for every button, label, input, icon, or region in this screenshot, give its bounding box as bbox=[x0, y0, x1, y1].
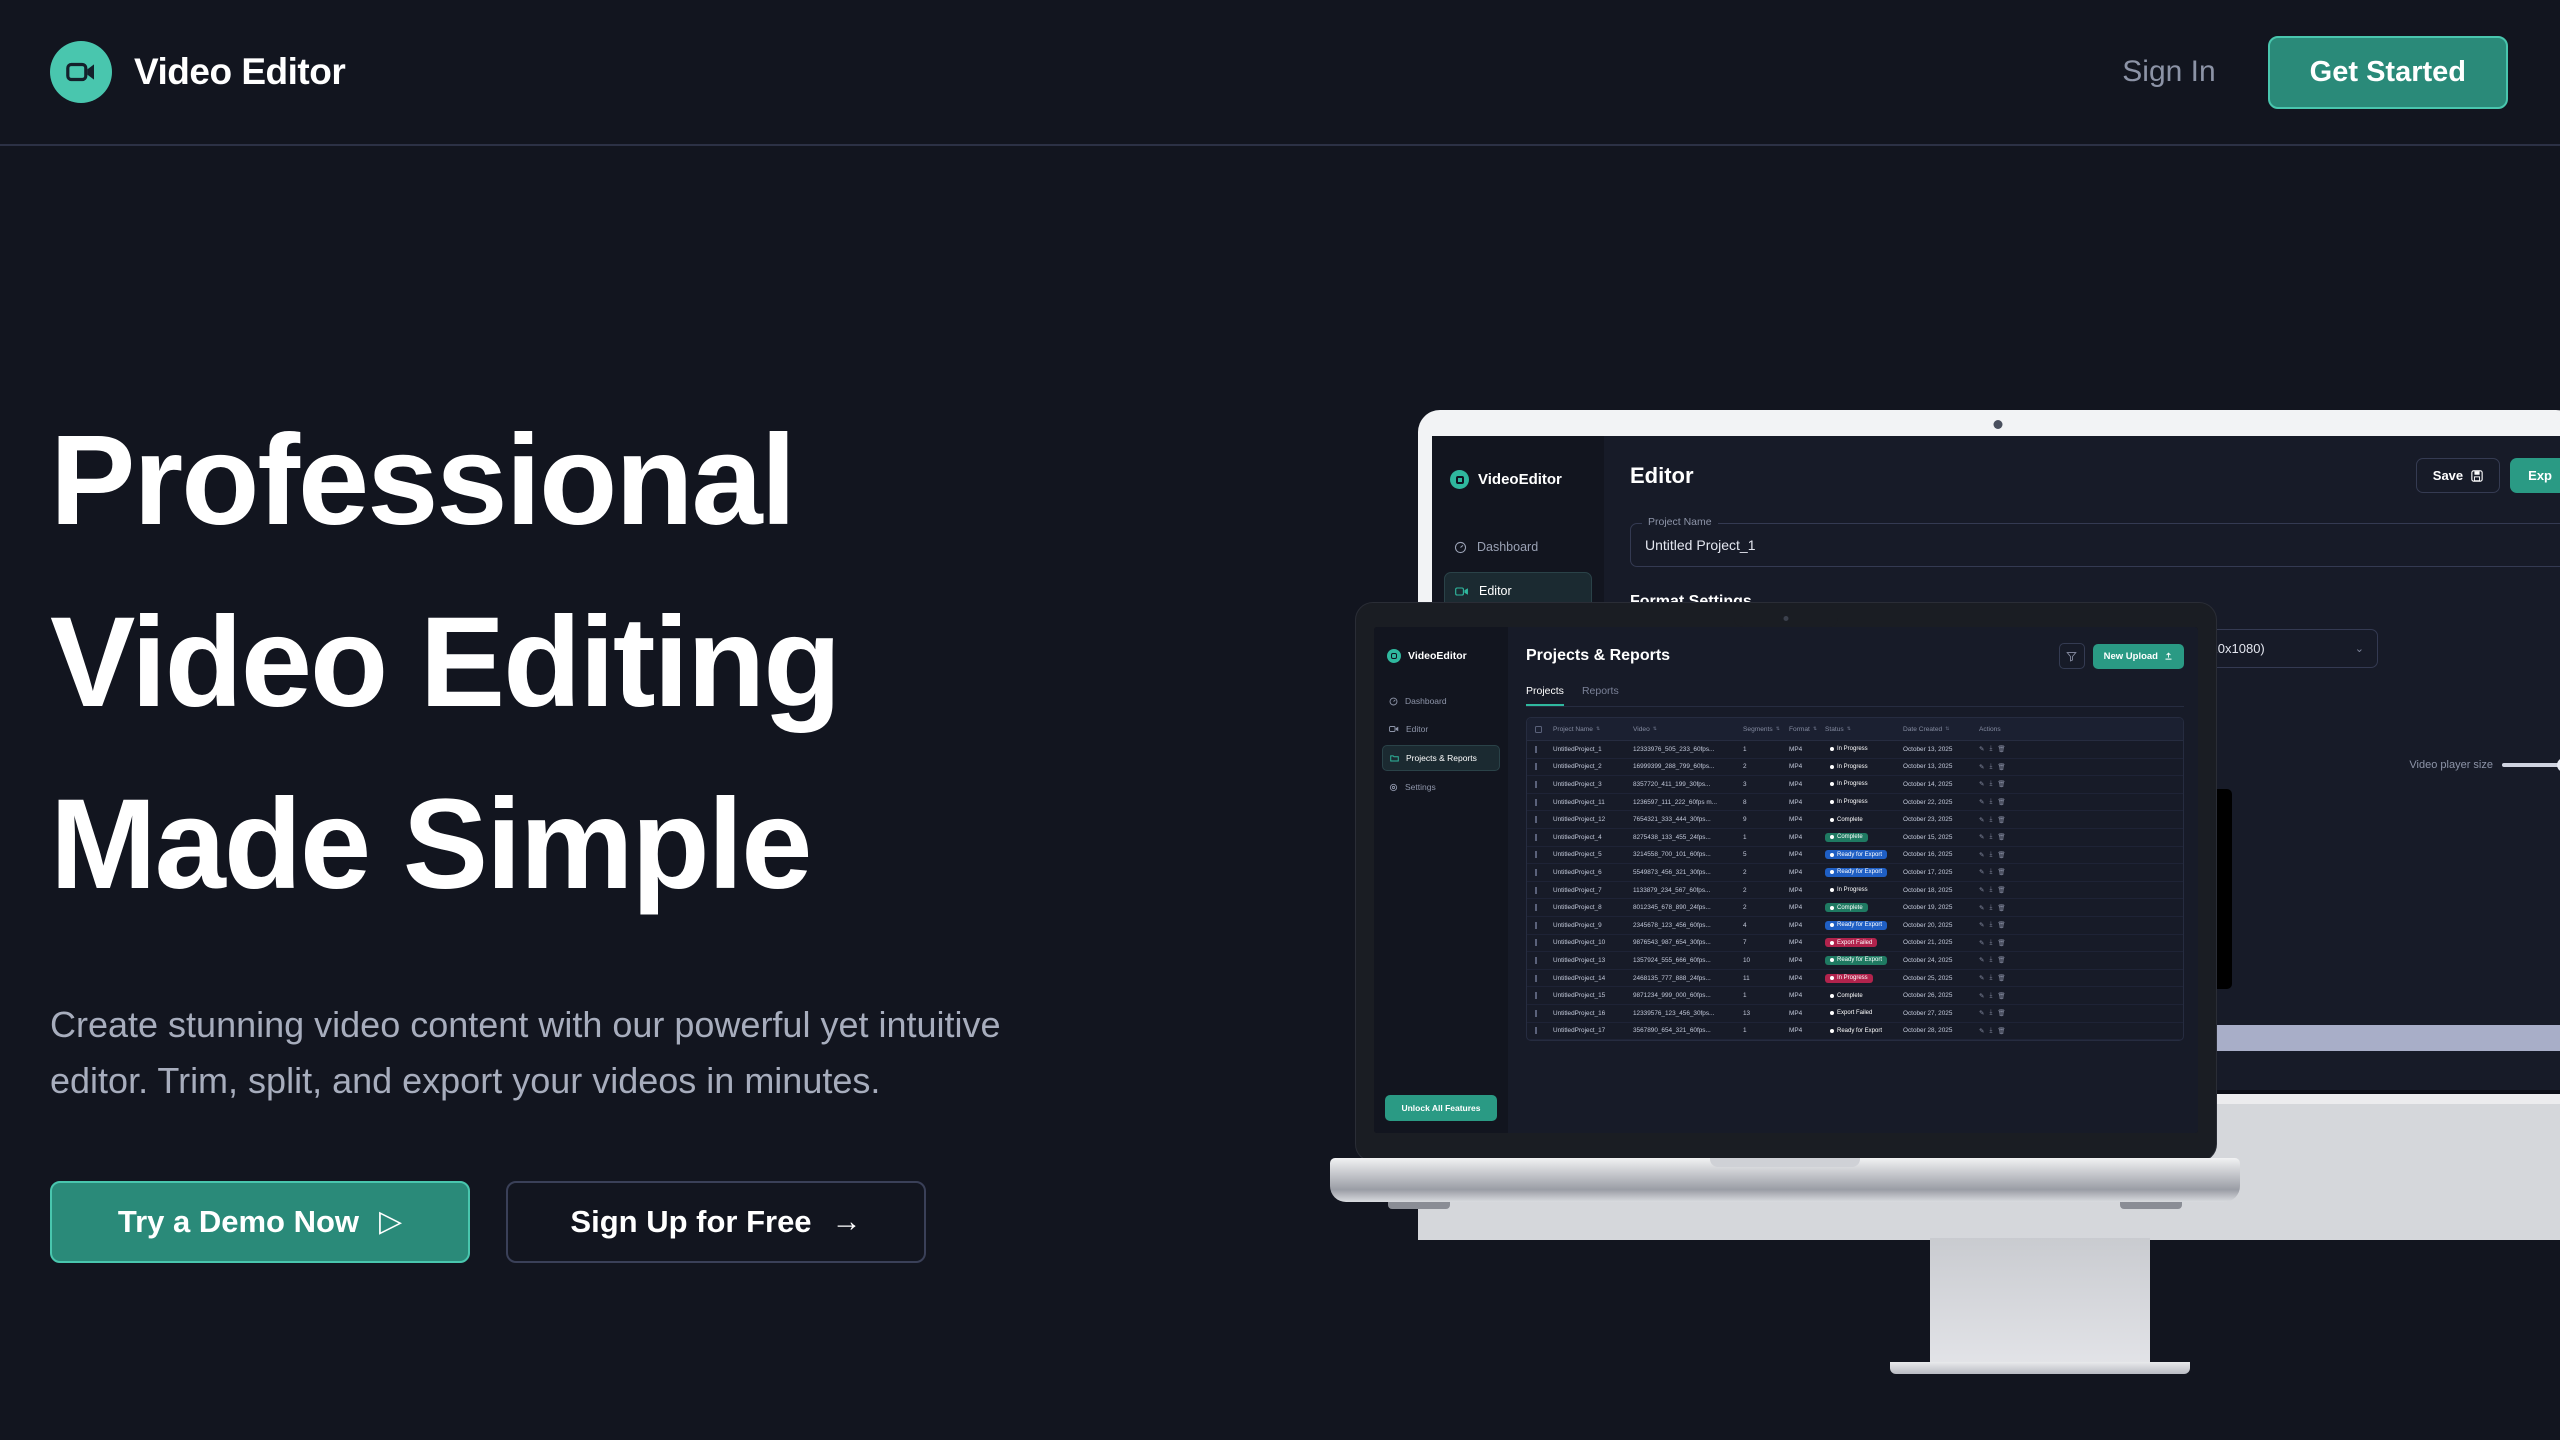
cell-project-name: UntitledProject_11 bbox=[1553, 799, 1633, 806]
video-camera-icon bbox=[1455, 586, 1469, 597]
sidebar-item-editor[interactable]: Editor bbox=[1382, 717, 1500, 741]
cell-segments: 4 bbox=[1743, 922, 1789, 929]
trash-icon: 🗑 bbox=[1997, 939, 2005, 947]
col-format[interactable]: Format⇅ bbox=[1789, 726, 1825, 733]
sidebar-item-label: Editor bbox=[1406, 724, 1428, 734]
edit-icon: ✎ bbox=[1979, 763, 1984, 771]
cell-segments: 1 bbox=[1743, 1027, 1789, 1034]
cell-date-created: October 17, 2025 bbox=[1903, 869, 1979, 876]
laptop-base bbox=[1330, 1158, 2240, 1202]
project-name-field[interactable]: Project Name Untitled Project_1 bbox=[1630, 523, 2560, 567]
table-row[interactable]: UntitledProject_131357924_555_666_60fps.… bbox=[1527, 952, 2183, 970]
trash-icon: 🗑 bbox=[1997, 851, 2005, 859]
table-body: UntitledProject_112333976_505_233_60fps.… bbox=[1527, 741, 2183, 1040]
cell-date-created: October 15, 2025 bbox=[1903, 834, 1979, 841]
cell-format: MP4 bbox=[1789, 1027, 1825, 1034]
edit-icon: ✎ bbox=[1979, 851, 1984, 859]
projects-main: Projects & Reports New Upload bbox=[1508, 627, 2198, 1133]
download-icon: ⤓ bbox=[1989, 1027, 1992, 1035]
cell-date-created: October 13, 2025 bbox=[1903, 746, 1979, 753]
cell-segments: 2 bbox=[1743, 763, 1789, 770]
filter-button[interactable] bbox=[2059, 643, 2085, 669]
video-camera-icon bbox=[1389, 725, 1399, 733]
download-icon: ⤓ bbox=[1989, 939, 1992, 947]
cell-format: MP4 bbox=[1789, 957, 1825, 964]
cell-format: MP4 bbox=[1789, 781, 1825, 788]
table-row[interactable]: UntitledProject_48275438_133_455_24fps..… bbox=[1527, 829, 2183, 847]
table-row[interactable]: UntitledProject_71133879_234_567_60fps..… bbox=[1527, 882, 2183, 900]
cell-actions[interactable]: ✎⤓🗑 bbox=[1979, 868, 2031, 876]
status-badge: Ready for Export bbox=[1825, 850, 1887, 859]
cell-segments: 5 bbox=[1743, 851, 1789, 858]
cell-actions[interactable]: ✎⤓🗑 bbox=[1979, 851, 2031, 859]
monitor-foot bbox=[1890, 1362, 2190, 1374]
chevron-down-icon: ⌄ bbox=[2355, 642, 2364, 655]
edit-icon: ✎ bbox=[1979, 833, 1984, 841]
cell-project-name: UntitledProject_6 bbox=[1553, 869, 1633, 876]
edit-icon: ✎ bbox=[1979, 816, 1984, 824]
tab-projects[interactable]: Projects bbox=[1526, 685, 1564, 706]
cell-video: 12333976_505_233_60fps... bbox=[1633, 746, 1743, 753]
cell-format: MP4 bbox=[1789, 869, 1825, 876]
sidebar-item-label: Dashboard bbox=[1405, 696, 1447, 706]
cell-format: MP4 bbox=[1789, 887, 1825, 894]
cell-actions[interactable]: ✎⤓🗑 bbox=[1979, 816, 2031, 824]
cell-segments: 1 bbox=[1743, 834, 1789, 841]
projects-header-actions: New Upload bbox=[2059, 643, 2184, 669]
cell-date-created: October 13, 2025 bbox=[1903, 763, 1979, 770]
gear-icon bbox=[1389, 783, 1398, 792]
projects-table: Project Name⇅ Video⇅ Segments⇅ Format⇅ S… bbox=[1526, 717, 2184, 1041]
row-checkbox[interactable] bbox=[1535, 904, 1553, 911]
status-badge: In Progress bbox=[1825, 762, 1873, 771]
video-camera-icon bbox=[50, 41, 112, 103]
status-badge: In Progress bbox=[1825, 886, 1873, 895]
play-icon: ▷ bbox=[379, 1204, 402, 1239]
cell-date-created: October 20, 2025 bbox=[1903, 922, 1979, 929]
cell-project-name: UntitledProject_17 bbox=[1553, 1027, 1633, 1034]
cell-segments: 8 bbox=[1743, 799, 1789, 806]
cell-actions[interactable]: ✎⤓🗑 bbox=[1979, 974, 2031, 982]
edit-icon: ✎ bbox=[1979, 921, 1984, 929]
download-icon: ⤓ bbox=[1989, 992, 1992, 1000]
cell-project-name: UntitledProject_14 bbox=[1553, 975, 1633, 982]
cell-actions[interactable]: ✎⤓🗑 bbox=[1979, 939, 2031, 947]
download-icon: ⤓ bbox=[1989, 921, 1992, 929]
sign-up-label: Sign Up for Free bbox=[570, 1204, 811, 1240]
trash-icon: 🗑 bbox=[1997, 798, 2005, 806]
cell-segments: 1 bbox=[1743, 992, 1789, 999]
row-checkbox[interactable] bbox=[1535, 746, 1553, 753]
export-button[interactable]: Exp bbox=[2510, 458, 2560, 493]
cell-status: In Progress bbox=[1825, 745, 1903, 754]
floppy-disk-icon bbox=[2471, 470, 2483, 482]
arrow-right-icon: → bbox=[832, 1205, 862, 1239]
cell-segments: 3 bbox=[1743, 781, 1789, 788]
cell-date-created: October 23, 2025 bbox=[1903, 816, 1979, 823]
player-size-label: Video player size bbox=[2409, 759, 2493, 771]
row-checkbox[interactable] bbox=[1535, 975, 1553, 982]
cell-segments: 2 bbox=[1743, 904, 1789, 911]
cell-status: Complete bbox=[1825, 903, 1903, 912]
table-row[interactable]: UntitledProject_1612339576_123_456_30fps… bbox=[1527, 1005, 2183, 1023]
status-badge: Ready for Export bbox=[1825, 956, 1887, 965]
cell-actions[interactable]: ✎⤓🗑 bbox=[1979, 780, 2031, 788]
edit-icon: ✎ bbox=[1979, 1027, 1984, 1035]
download-icon: ⤓ bbox=[1989, 763, 1992, 771]
download-icon: ⤓ bbox=[1989, 851, 1992, 859]
try-demo-label: Try a Demo Now bbox=[118, 1204, 359, 1240]
row-checkbox[interactable] bbox=[1535, 763, 1553, 770]
project-name-label: Project Name bbox=[1642, 516, 1718, 528]
cell-format: MP4 bbox=[1789, 939, 1825, 946]
cell-format: MP4 bbox=[1789, 1010, 1825, 1017]
cell-format: MP4 bbox=[1789, 816, 1825, 823]
cell-date-created: October 26, 2025 bbox=[1903, 992, 1979, 999]
edit-icon: ✎ bbox=[1979, 939, 1984, 947]
cell-actions[interactable]: ✎⤓🗑 bbox=[1979, 1027, 2031, 1035]
cell-format: MP4 bbox=[1789, 799, 1825, 806]
row-checkbox[interactable] bbox=[1535, 957, 1553, 964]
download-icon: ⤓ bbox=[1989, 974, 1992, 982]
camera-icon bbox=[1994, 420, 2003, 429]
try-demo-button[interactable]: Try a Demo Now ▷ bbox=[50, 1181, 470, 1263]
col-segments[interactable]: Segments⇅ bbox=[1743, 726, 1789, 733]
cell-video: 12339576_123_456_30fps... bbox=[1633, 1010, 1743, 1017]
download-icon: ⤓ bbox=[1989, 798, 1992, 806]
save-label: Save bbox=[2433, 468, 2463, 483]
editor-page-title: Editor bbox=[1630, 463, 1694, 489]
row-checkbox[interactable] bbox=[1535, 887, 1553, 894]
cell-status: Complete bbox=[1825, 991, 1903, 1000]
cell-project-name: UntitledProject_9 bbox=[1553, 922, 1633, 929]
cell-project-name: UntitledProject_4 bbox=[1553, 834, 1633, 841]
trash-icon: 🗑 bbox=[1997, 816, 2005, 824]
table-row[interactable]: UntitledProject_159871234_999_000_60fps.… bbox=[1527, 987, 2183, 1005]
cell-status: Complete bbox=[1825, 833, 1903, 842]
trash-icon: 🗑 bbox=[1997, 780, 2005, 788]
cell-project-name: UntitledProject_16 bbox=[1553, 1010, 1633, 1017]
row-checkbox[interactable] bbox=[1535, 1010, 1553, 1017]
cell-video: 2345678_123_456_60fps... bbox=[1633, 922, 1743, 929]
cell-video: 16999399_288_799_60fps... bbox=[1633, 763, 1743, 770]
trash-icon: 🗑 bbox=[1997, 921, 2005, 929]
cell-project-name: UntitledProject_3 bbox=[1553, 781, 1633, 788]
cell-status: Complete bbox=[1825, 815, 1903, 824]
sidebar-item-projects[interactable]: Projects & Reports bbox=[1382, 745, 1500, 771]
cell-date-created: October 16, 2025 bbox=[1903, 851, 1979, 858]
sort-icon: ⇅ bbox=[1847, 726, 1851, 732]
trash-icon: 🗑 bbox=[1997, 886, 2005, 894]
projects-brand: VideoEditor bbox=[1387, 649, 1495, 663]
table-row[interactable]: UntitledProject_53214558_700_101_60fps..… bbox=[1527, 847, 2183, 865]
status-badge: Ready for Export bbox=[1825, 921, 1887, 930]
cell-format: MP4 bbox=[1789, 992, 1825, 999]
sidebar-item-settings[interactable]: Settings bbox=[1382, 775, 1500, 799]
table-row[interactable]: UntitledProject_127654321_333_444_30fps.… bbox=[1527, 811, 2183, 829]
edit-icon: ✎ bbox=[1979, 745, 1984, 753]
laptop-screen: VideoEditor Dashboard Editor bbox=[1374, 627, 2198, 1133]
cell-segments: 7 bbox=[1743, 939, 1789, 946]
cell-project-name: UntitledProject_1 bbox=[1553, 746, 1633, 753]
col-status[interactable]: Status⇅ bbox=[1825, 726, 1903, 733]
cell-date-created: October 18, 2025 bbox=[1903, 887, 1979, 894]
trash-icon: 🗑 bbox=[1997, 763, 2005, 771]
device-mockups: VideoEditor Dashboard Editor bbox=[1330, 370, 2560, 1280]
cell-status: In Progress bbox=[1825, 762, 1903, 771]
projects-brand-name: VideoEditor bbox=[1408, 650, 1467, 662]
table-row[interactable]: UntitledProject_88012345_678_890_24fps..… bbox=[1527, 899, 2183, 917]
col-video[interactable]: Video⇅ bbox=[1633, 726, 1743, 733]
landing-page: Video Editor Sign In Get Started Profess… bbox=[0, 0, 2560, 1440]
cell-actions[interactable]: ✎⤓🗑 bbox=[1979, 921, 2031, 929]
cell-project-name: UntitledProject_15 bbox=[1553, 992, 1633, 999]
row-checkbox[interactable] bbox=[1535, 799, 1553, 806]
edit-icon: ✎ bbox=[1979, 974, 1984, 982]
table-row[interactable]: UntitledProject_173567890_654_321_60fps.… bbox=[1527, 1023, 2183, 1041]
cell-video: 8357720_411_199_30fps... bbox=[1633, 781, 1743, 788]
cell-segments: 13 bbox=[1743, 1010, 1789, 1017]
download-icon: ⤓ bbox=[1989, 904, 1992, 912]
edit-icon: ✎ bbox=[1979, 1009, 1984, 1017]
sort-icon: ⇅ bbox=[1653, 726, 1657, 732]
select-all-checkbox[interactable] bbox=[1535, 726, 1553, 733]
status-badge: In Progress bbox=[1825, 780, 1873, 789]
cell-video: 1357924_555_666_60fps... bbox=[1633, 957, 1743, 964]
edit-icon: ✎ bbox=[1979, 780, 1984, 788]
col-actions: Actions bbox=[1979, 726, 2031, 733]
slider-track[interactable] bbox=[2502, 763, 2560, 767]
cell-date-created: October 25, 2025 bbox=[1903, 975, 1979, 982]
site-header: Video Editor Sign In Get Started bbox=[0, 0, 2560, 146]
unlock-all-features-button[interactable]: Unlock All Features bbox=[1385, 1095, 1497, 1121]
cell-status: Ready for Export bbox=[1825, 1026, 1903, 1035]
cell-format: MP4 bbox=[1789, 746, 1825, 753]
cell-video: 7654321_333_444_30fps... bbox=[1633, 816, 1743, 823]
cell-date-created: October 14, 2025 bbox=[1903, 781, 1979, 788]
edit-icon: ✎ bbox=[1979, 886, 1984, 894]
save-button[interactable]: Save bbox=[2416, 458, 2500, 493]
cell-date-created: October 22, 2025 bbox=[1903, 799, 1979, 806]
editor-brand: VideoEditor bbox=[1450, 470, 1586, 489]
cta-row: Try a Demo Now ▷ Sign Up for Free → bbox=[50, 1181, 1230, 1263]
status-badge: In Progress bbox=[1825, 974, 1873, 983]
cell-project-name: UntitledProject_8 bbox=[1553, 904, 1633, 911]
table-row[interactable]: UntitledProject_142468135_777_888_24fps.… bbox=[1527, 970, 2183, 988]
cell-status: In Progress bbox=[1825, 974, 1903, 983]
cell-date-created: October 28, 2025 bbox=[1903, 1027, 1979, 1034]
projects-tabs: Projects Reports bbox=[1526, 685, 2184, 707]
cell-project-name: UntitledProject_12 bbox=[1553, 816, 1633, 823]
cell-status: In Progress bbox=[1825, 798, 1903, 807]
projects-header: Projects & Reports New Upload bbox=[1526, 643, 2184, 669]
status-badge: Complete bbox=[1825, 903, 1868, 912]
cell-video: 5549873_456_321_30fps... bbox=[1633, 869, 1743, 876]
cell-status: Export Failed bbox=[1825, 938, 1903, 947]
row-checkbox[interactable] bbox=[1535, 851, 1553, 858]
cell-project-name: UntitledProject_13 bbox=[1553, 957, 1633, 964]
table-row[interactable]: UntitledProject_38357720_411_199_30fps..… bbox=[1527, 776, 2183, 794]
edit-icon: ✎ bbox=[1979, 992, 1984, 1000]
cell-actions[interactable]: ✎⤓🗑 bbox=[1979, 798, 2031, 806]
player-size-slider[interactable]: Video player size bbox=[2409, 759, 2560, 771]
sort-icon: ⇅ bbox=[1945, 726, 1949, 732]
new-upload-button[interactable]: New Upload bbox=[2093, 644, 2184, 669]
download-icon: ⤓ bbox=[1989, 886, 1992, 894]
edit-icon: ✎ bbox=[1979, 904, 1984, 912]
download-icon: ⤓ bbox=[1989, 868, 1992, 876]
trash-icon: 🗑 bbox=[1997, 956, 2005, 964]
cell-video: 9871234_999_000_60fps... bbox=[1633, 992, 1743, 999]
sidebar-item-label: Settings bbox=[1405, 782, 1436, 792]
table-row[interactable]: UntitledProject_109876543_987_654_30fps.… bbox=[1527, 935, 2183, 953]
cell-format: MP4 bbox=[1789, 904, 1825, 911]
cell-video: 3567890_654_321_60fps... bbox=[1633, 1027, 1743, 1034]
status-badge: Export Failed bbox=[1825, 1009, 1877, 1018]
status-badge: Ready for Export bbox=[1825, 868, 1887, 877]
cell-format: MP4 bbox=[1789, 975, 1825, 982]
sort-icon: ⇅ bbox=[1813, 726, 1817, 732]
download-icon: ⤓ bbox=[1989, 833, 1992, 841]
gauge-icon bbox=[1454, 541, 1467, 554]
cell-segments: 2 bbox=[1743, 887, 1789, 894]
get-started-button[interactable]: Get Started bbox=[2268, 36, 2508, 109]
projects-sidebar: VideoEditor Dashboard Editor bbox=[1374, 627, 1508, 1133]
tab-reports[interactable]: Reports bbox=[1582, 685, 1619, 706]
trash-icon: 🗑 bbox=[1997, 904, 2005, 912]
trash-icon: 🗑 bbox=[1997, 992, 2005, 1000]
table-header-row: Project Name⇅ Video⇅ Segments⇅ Format⇅ S… bbox=[1527, 718, 2183, 741]
project-name-value: Untitled Project_1 bbox=[1645, 537, 1756, 553]
download-icon: ⤓ bbox=[1989, 780, 1992, 788]
cell-video: 1236597_111_222_60fps m... bbox=[1633, 799, 1743, 806]
cell-actions[interactable]: ✎⤓🗑 bbox=[1979, 745, 2031, 753]
cell-status: Ready for Export bbox=[1825, 921, 1903, 930]
editor-title-row: Editor Save Exp bbox=[1630, 458, 2560, 493]
row-checkbox[interactable] bbox=[1535, 816, 1553, 823]
cell-format: MP4 bbox=[1789, 851, 1825, 858]
sort-icon: ⇅ bbox=[1596, 726, 1600, 732]
download-icon: ⤓ bbox=[1989, 816, 1992, 824]
status-badge: In Progress bbox=[1825, 798, 1873, 807]
col-project-name[interactable]: Project Name⇅ bbox=[1553, 726, 1633, 733]
row-checkbox[interactable] bbox=[1535, 834, 1553, 841]
cell-format: MP4 bbox=[1789, 763, 1825, 770]
row-checkbox[interactable] bbox=[1535, 1027, 1553, 1034]
cell-segments: 1 bbox=[1743, 746, 1789, 753]
status-badge: Complete bbox=[1825, 833, 1868, 842]
cell-video: 8275438_133_455_24fps... bbox=[1633, 834, 1743, 841]
cell-project-name: UntitledProject_10 bbox=[1553, 939, 1633, 946]
trash-icon: 🗑 bbox=[1997, 868, 2005, 876]
video-camera-icon bbox=[1387, 649, 1401, 663]
cell-actions[interactable]: ✎⤓🗑 bbox=[1979, 763, 2031, 771]
cell-project-name: UntitledProject_7 bbox=[1553, 887, 1633, 894]
cell-status: Ready for Export bbox=[1825, 956, 1903, 965]
cell-status: Ready for Export bbox=[1825, 850, 1903, 859]
cell-actions[interactable]: ✎⤓🗑 bbox=[1979, 956, 2031, 964]
cell-video: 9876543_987_654_30fps... bbox=[1633, 939, 1743, 946]
sign-up-button[interactable]: Sign Up for Free → bbox=[506, 1181, 926, 1263]
editor-actions: Save Exp bbox=[2416, 458, 2560, 493]
gauge-icon bbox=[1389, 697, 1398, 706]
cell-actions[interactable]: ✎⤓🗑 bbox=[1979, 833, 2031, 841]
cell-date-created: October 24, 2025 bbox=[1903, 957, 1979, 964]
cell-project-name: UntitledProject_2 bbox=[1553, 763, 1633, 770]
cell-video: 3214558_700_101_60fps... bbox=[1633, 851, 1743, 858]
table-row[interactable]: UntitledProject_216999399_288_799_60fps.… bbox=[1527, 759, 2183, 777]
cell-status: Export Failed bbox=[1825, 1009, 1903, 1018]
folder-icon bbox=[1390, 754, 1399, 762]
trash-icon: 🗑 bbox=[1997, 974, 2005, 982]
row-checkbox[interactable] bbox=[1535, 781, 1553, 788]
camera-icon bbox=[1784, 616, 1789, 621]
page-title: Professional Video Editing Made Simple bbox=[50, 390, 1230, 935]
cell-segments: 11 bbox=[1743, 975, 1789, 982]
cell-status: Ready for Export bbox=[1825, 868, 1903, 877]
monitor-stand bbox=[1930, 1238, 2150, 1368]
cell-format: MP4 bbox=[1789, 834, 1825, 841]
cell-status: In Progress bbox=[1825, 886, 1903, 895]
cell-actions[interactable]: ✎⤓🗑 bbox=[1979, 886, 2031, 894]
new-upload-label: New Upload bbox=[2104, 651, 2158, 662]
sidebar-item-label: Dashboard bbox=[1477, 540, 1538, 554]
cell-segments: 10 bbox=[1743, 957, 1789, 964]
sign-in-link[interactable]: Sign In bbox=[2122, 55, 2215, 89]
edit-icon: ✎ bbox=[1979, 956, 1984, 964]
col-date-created[interactable]: Date Created⇅ bbox=[1903, 726, 1979, 733]
cell-video: 2468135_777_888_24fps... bbox=[1633, 975, 1743, 982]
cell-video: 1133879_234_567_60fps... bbox=[1633, 887, 1743, 894]
cell-date-created: October 21, 2025 bbox=[1903, 939, 1979, 946]
hero-section: Professional Video Editing Made Simple C… bbox=[50, 390, 1230, 1263]
row-checkbox[interactable] bbox=[1535, 922, 1553, 929]
cell-actions[interactable]: ✎⤓🗑 bbox=[1979, 992, 2031, 1000]
video-camera-icon bbox=[1450, 470, 1469, 489]
brand-name: Video Editor bbox=[134, 51, 345, 93]
download-icon: ⤓ bbox=[1989, 745, 1992, 753]
table-row[interactable]: UntitledProject_112333976_505_233_60fps.… bbox=[1527, 741, 2183, 759]
download-icon: ⤓ bbox=[1989, 1009, 1992, 1017]
table-row[interactable]: UntitledProject_92345678_123_456_60fps..… bbox=[1527, 917, 2183, 935]
brand[interactable]: Video Editor bbox=[50, 41, 345, 103]
cell-date-created: October 27, 2025 bbox=[1903, 1010, 1979, 1017]
cell-status: In Progress bbox=[1825, 780, 1903, 789]
trash-icon: 🗑 bbox=[1997, 833, 2005, 841]
table-row[interactable]: UntitledProject_111236597_111_222_60fps … bbox=[1527, 794, 2183, 812]
trash-icon: 🗑 bbox=[1997, 1009, 2005, 1017]
cell-actions[interactable]: ✎⤓🗑 bbox=[1979, 1009, 2031, 1017]
sidebar-item-dashboard[interactable]: Dashboard bbox=[1382, 689, 1500, 713]
cell-segments: 2 bbox=[1743, 869, 1789, 876]
header-actions: Sign In Get Started bbox=[2122, 36, 2508, 109]
row-checkbox[interactable] bbox=[1535, 939, 1553, 946]
row-checkbox[interactable] bbox=[1535, 869, 1553, 876]
cell-project-name: UntitledProject_5 bbox=[1553, 851, 1633, 858]
sidebar-item-dashboard[interactable]: Dashboard bbox=[1444, 529, 1592, 565]
row-checkbox[interactable] bbox=[1535, 992, 1553, 999]
cell-video: 8012345_678_890_24fps... bbox=[1633, 904, 1743, 911]
table-row[interactable]: UntitledProject_65549873_456_321_30fps..… bbox=[1527, 864, 2183, 882]
status-badge: Complete bbox=[1825, 991, 1868, 1000]
filter-icon bbox=[2066, 651, 2077, 662]
edit-icon: ✎ bbox=[1979, 868, 1984, 876]
cell-actions[interactable]: ✎⤓🗑 bbox=[1979, 904, 2031, 912]
sidebar-item-label: Editor bbox=[1479, 584, 1512, 598]
status-badge: In Progress bbox=[1825, 745, 1873, 754]
editor-brand-name: VideoEditor bbox=[1478, 471, 1562, 488]
download-icon: ⤓ bbox=[1989, 956, 1992, 964]
